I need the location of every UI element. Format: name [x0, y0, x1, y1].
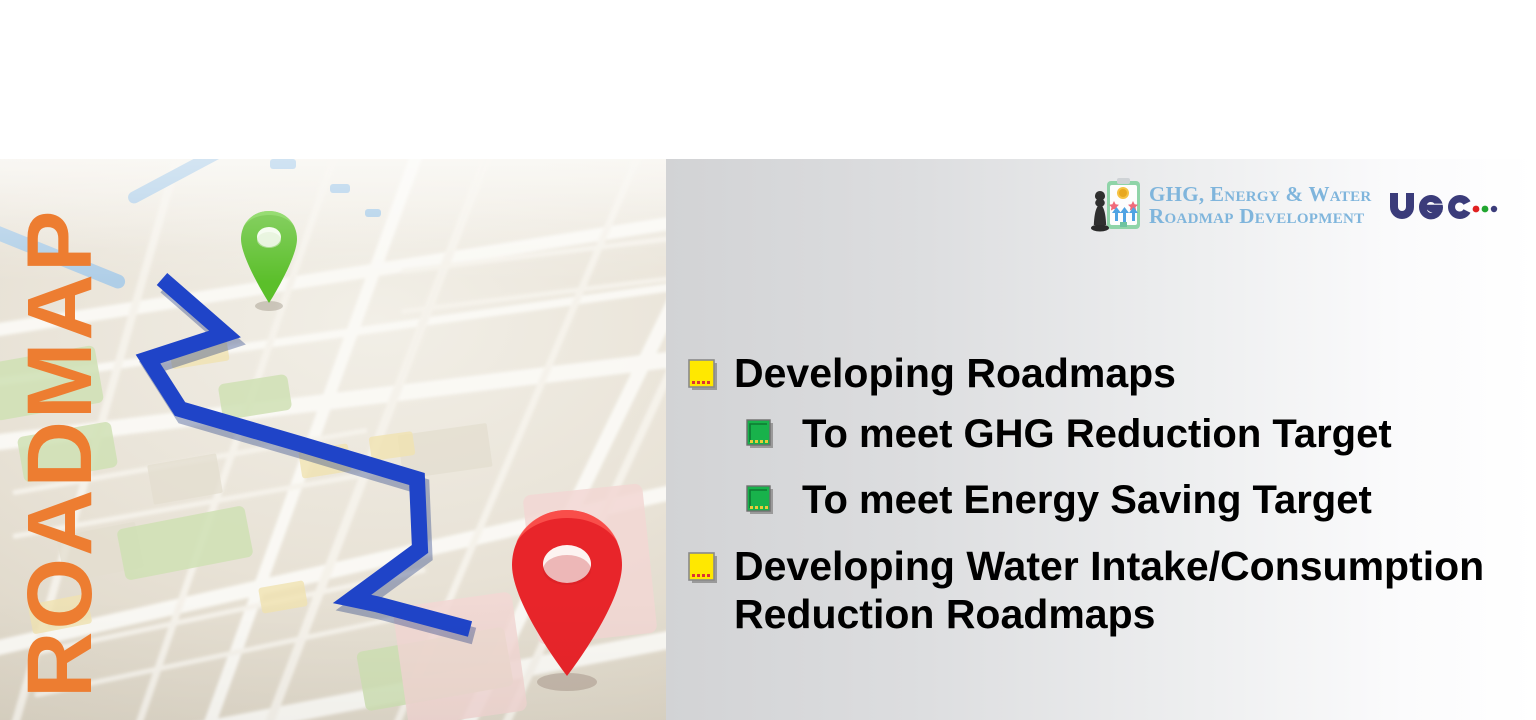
slide-root: ROADMAP: [0, 0, 1536, 720]
content-band: ROADMAP: [0, 159, 1536, 720]
map-pin-end-icon: [506, 504, 628, 694]
yellow-note-icon: [688, 359, 718, 391]
map-image-panel: ROADMAP: [0, 159, 666, 720]
ghg-logo-text: GHG, Energy & Water Roadmap Development: [1149, 183, 1372, 228]
bullet-list: Developing Roadmaps To meet GHG Reductio…: [688, 349, 1528, 639]
list-item: Developing Water Intake/Consumption Redu…: [688, 542, 1528, 639]
branding-logos: GHG, Energy & Water Roadmap Development: [1091, 177, 1498, 233]
clipboard-chess-icon: [1091, 177, 1143, 233]
yellow-note-icon: [688, 552, 718, 584]
list-item-label: Developing Roadmaps: [734, 349, 1176, 397]
list-item: To meet GHG Reduction Target: [746, 411, 1528, 458]
top-white-band: [0, 0, 1536, 159]
ghg-logo-line2: Roadmap Development: [1149, 205, 1372, 227]
ghg-logo-line1: GHG, Energy & Water: [1149, 183, 1372, 205]
list-item-label: To meet Energy Saving Target: [802, 477, 1372, 524]
list-item-label: To meet GHG Reduction Target: [802, 411, 1392, 458]
list-item: To meet Energy Saving Target: [746, 477, 1528, 524]
ghg-program-logo: GHG, Energy & Water Roadmap Development: [1091, 177, 1372, 233]
uec-company-logo: [1386, 185, 1498, 225]
green-note-icon: [746, 419, 774, 449]
side-title-roadmap: ROADMAP: [0, 159, 120, 720]
content-panel: GHG, Energy & Water Roadmap Development: [666, 159, 1536, 720]
green-note-icon: [746, 485, 774, 515]
list-item: Developing Roadmaps: [688, 349, 1528, 397]
list-item-label: Developing Water Intake/Consumption Redu…: [734, 542, 1528, 639]
map-pin-start-icon: [238, 207, 300, 313]
